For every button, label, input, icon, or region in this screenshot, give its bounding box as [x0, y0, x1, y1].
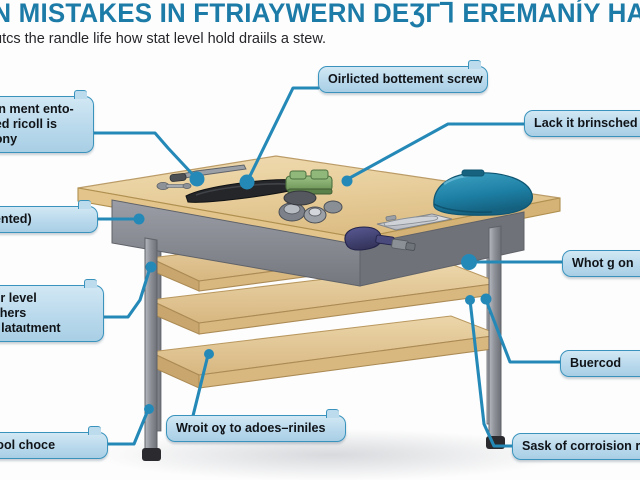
callout-corroision-line-1: Sask of corroision resi [522, 439, 640, 454]
callout-level-washers[interactable]: ntalr level Vashers red lataıtment [0, 285, 104, 342]
connector-level-washers [104, 268, 150, 317]
anchor-level-washers [146, 262, 157, 273]
callout-level-washers-line-2: Vashers [0, 306, 94, 321]
anchor-corroision [465, 295, 475, 305]
anchor-alignment [190, 172, 205, 187]
callout-tool-choce[interactable]: or tool choce [0, 432, 108, 459]
anchor-tool-choce [144, 404, 154, 414]
diagram-canvas: ON MISTAKES IN FTRIAYWERN DEƷГꞀ EREMANÍY… [0, 0, 640, 480]
callout-corroision[interactable]: Sask of corroision resi [512, 433, 640, 460]
callout-bottement-screw-line-1: Oirlicted bottement screw [328, 72, 478, 87]
callout-adoes-riniles[interactable]: Wroit oɣ to adoes–riniles [166, 415, 346, 442]
page-title: ON MISTAKES IN FTRIAYWERN DEƷГꞀ EREMANÍY… [0, 0, 640, 29]
foot-pad-left [142, 448, 161, 461]
callout-level-washers-line-3: red lataıtment [0, 321, 94, 336]
callout-comented-line-1: comented) [0, 212, 88, 227]
callout-tool-choce-line-1: or tool choce [0, 438, 98, 453]
anchor-whot-g-on [461, 254, 477, 270]
callout-level-washers-line-1: ntalr level [0, 291, 94, 306]
anchor-comented [134, 214, 145, 225]
callout-alignment-line-2: geed ricoll is [0, 117, 84, 132]
callout-brinsched-screw[interactable]: Lack it brinsched sc [524, 110, 640, 137]
anchor-adoes-riniles [204, 349, 214, 359]
callout-buercod-line-1: Buercod [570, 356, 640, 371]
callout-brinsched-screw-line-1: Lack it brinsched sc [534, 116, 640, 131]
connector-tool-choce [108, 410, 148, 444]
callout-adoes-riniles-line-1: Wroit oɣ to adoes–riniles [176, 421, 336, 436]
callout-alignment[interactable]: aign ment ento- geed ricoll is s tony [0, 96, 94, 153]
anchor-bottement-screw [240, 175, 255, 190]
page-subtitle: utcs the randle life how stat level hold… [0, 31, 640, 47]
tool-power-tool-blue [434, 170, 533, 215]
callout-whot-g-on[interactable]: Whot g on [562, 250, 640, 277]
callout-bottement-screw[interactable]: Oirlicted bottement screw [318, 66, 488, 93]
anchor-brinsched-screw [342, 176, 353, 187]
callout-buercod[interactable]: Buercod [560, 350, 640, 377]
anchor-buercod [481, 294, 492, 305]
callout-alignment-line-1: aign ment ento- [0, 102, 84, 117]
callout-alignment-line-3: s tony [0, 132, 84, 147]
callout-whot-g-on-line-1: Whot g on [572, 256, 640, 271]
callout-comented[interactable]: comented) [0, 206, 98, 233]
